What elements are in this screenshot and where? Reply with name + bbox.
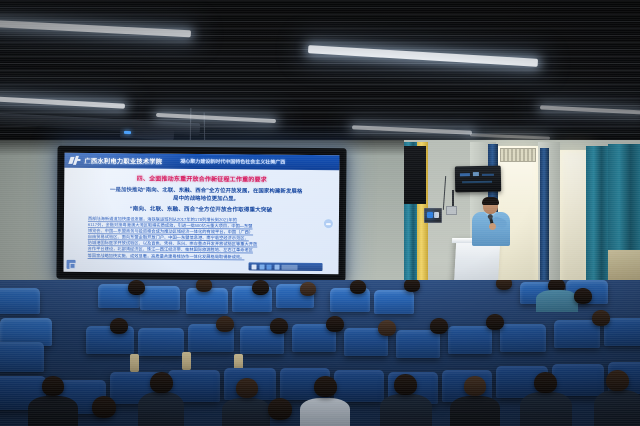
- audience-head: [464, 376, 486, 396]
- audience-head: [110, 318, 128, 334]
- seat[interactable]: [552, 364, 604, 396]
- media-icon[interactable]: [274, 264, 279, 269]
- fluorescent-strip-light: [0, 96, 125, 109]
- slide-section-title: 四、全面推动东重开放合作新征程工作重的要求: [64, 173, 339, 184]
- curtain-teal[interactable]: [586, 146, 608, 296]
- seat[interactable]: [138, 328, 184, 356]
- audience-shoulders: [28, 396, 78, 426]
- curtain-navy[interactable]: [540, 148, 549, 290]
- desktop-taskbar[interactable]: [249, 262, 323, 271]
- audience-head: [404, 280, 420, 292]
- fluorescent-strip-light: [470, 133, 550, 139]
- slide-paragraph-1: 一是加快推动“南向、北联、东融、西合”全方位开放发展，在国家构建新发展格局中的战…: [108, 186, 304, 204]
- institution-logo-icon: [69, 156, 80, 165]
- seat[interactable]: [604, 318, 640, 346]
- audience-head: [574, 288, 592, 304]
- audience-head: [300, 282, 316, 296]
- slide-body-line: 等国家战略加快实施、成效显著，高质量共建粤桂协作一体化发展格局取得新成效。: [88, 253, 314, 261]
- audience-shoulders: [222, 398, 270, 426]
- seat[interactable]: [500, 324, 546, 352]
- audience-head: [196, 280, 212, 292]
- fluorescent-strip-light: [0, 20, 191, 38]
- audience-head: [92, 396, 116, 418]
- audience-head: [42, 376, 64, 396]
- seat[interactable]: [0, 288, 40, 314]
- window-strip[interactable]: [282, 264, 298, 269]
- start-icon[interactable]: [252, 264, 257, 269]
- slide-header: 广西水利电力职业技术学院 凝心聚力建设新时代中国特色社会主义壮美广西 Guang…: [64, 153, 339, 170]
- ceiling-duct: [0, 113, 200, 136]
- seat[interactable]: [0, 342, 44, 372]
- audience-head: [268, 398, 292, 420]
- audience-head: [270, 318, 288, 334]
- audience-head: [378, 320, 396, 336]
- audience-shoulders: [138, 392, 184, 426]
- audience-head: [350, 280, 366, 294]
- projector-led-icon: [124, 131, 131, 134]
- seat-armrest: [182, 352, 191, 370]
- ceiling-projector-icon: [120, 127, 175, 141]
- slide-content: 广西水利电力职业技术学院 凝心聚力建设新时代中国特色社会主义壮美广西 Guang…: [63, 153, 339, 274]
- audience-shoulders: [380, 394, 432, 426]
- seat[interactable]: [140, 286, 180, 310]
- audience-head: [534, 372, 557, 393]
- presenter: [470, 198, 512, 246]
- audience-head: [486, 314, 504, 330]
- audience-head: [314, 376, 337, 397]
- audience-area: [0, 280, 640, 426]
- seat-armrest: [130, 354, 139, 372]
- audience-shoulders: [594, 390, 640, 426]
- slide-badge-icon: [67, 260, 76, 269]
- audience-head: [236, 378, 258, 398]
- audience-head: [496, 280, 512, 290]
- fluorescent-strip-light: [540, 105, 640, 114]
- audience-head: [216, 316, 234, 332]
- audience-head: [128, 280, 145, 295]
- presenter-hand: [489, 223, 496, 230]
- wood-bench: [608, 250, 640, 280]
- screen-control-icon[interactable]: [323, 218, 334, 229]
- audience-shoulders: [450, 396, 500, 426]
- presentation-screen[interactable]: 广西水利电力职业技术学院 凝心聚力建设新时代中国特色社会主义壮美广西 Guang…: [56, 146, 346, 282]
- folder-icon[interactable]: [259, 264, 264, 269]
- slide-banner-text: 凝心聚力建设新时代中国特色社会主义壮美广西: [180, 158, 285, 166]
- audience-head: [252, 280, 269, 295]
- slide-body-text: 西部陆海新通道加快建设发展，海铁联运班列从2017年的178列增长到2021年的…: [88, 216, 314, 261]
- slide-paragraph-2: “南向、北联、东融、西合”全方位开放合作取得重大突破: [94, 204, 308, 214]
- wall-speaker-icon: [455, 166, 501, 193]
- audience-head: [326, 316, 344, 332]
- fluorescent-strip-light: [156, 113, 276, 123]
- fluorescent-strip-light: [308, 45, 538, 67]
- presenter-hair: [482, 197, 499, 205]
- seat[interactable]: [334, 370, 384, 402]
- daylight-window: [560, 150, 588, 286]
- wall-control-panel-icon[interactable]: [424, 208, 442, 223]
- wall-socket-plate-icon: [446, 206, 457, 215]
- audience-head: [592, 310, 610, 326]
- seat[interactable]: [374, 290, 414, 314]
- seat[interactable]: [554, 320, 600, 348]
- browser-icon[interactable]: [267, 264, 272, 269]
- audience-head: [394, 374, 417, 395]
- audience-head: [150, 372, 173, 393]
- fluorescent-strip-light: [352, 125, 472, 134]
- audience-shoulders: [536, 290, 578, 312]
- seat[interactable]: [396, 330, 440, 358]
- audience-shoulders: [520, 392, 572, 426]
- audience-shoulders: [300, 398, 350, 426]
- audience-head: [606, 370, 629, 391]
- seat[interactable]: [186, 288, 228, 314]
- ceiling: [0, 0, 640, 160]
- wall-dark-panel: [404, 146, 426, 204]
- lecture-hall-photo: 广西水利电力职业技术学院 凝心聚力建设新时代中国特色社会主义壮美广西 Guang…: [0, 0, 640, 426]
- audience-head: [430, 318, 448, 334]
- seat[interactable]: [448, 326, 492, 354]
- window-vent-grill: [500, 148, 536, 162]
